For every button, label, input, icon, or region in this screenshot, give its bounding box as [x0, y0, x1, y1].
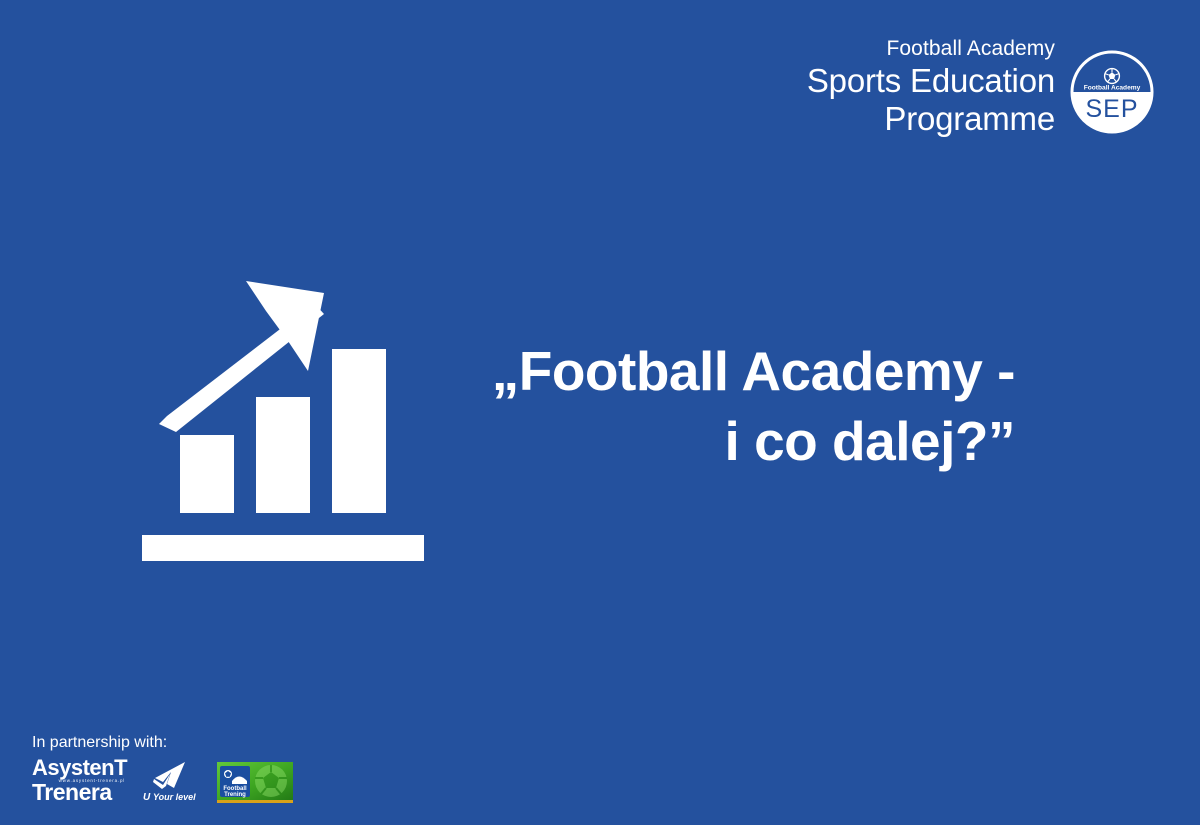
page-title-line1: „Football Academy - — [440, 336, 1015, 406]
up-your-level-label: Your level — [153, 792, 196, 802]
header-brand-block: Football Academy Sports Education Progra… — [807, 38, 1055, 135]
partner-logo-row: AsystenT www.asystent-trenera.pl Trenera… — [32, 758, 293, 803]
football-trening-logo: Football Trening — [217, 762, 293, 803]
sep-badge: Football Academy SEP — [1070, 46, 1154, 138]
chart-bar-3 — [332, 349, 386, 513]
asystent-trenera-logo: AsystenT www.asystent-trenera.pl Trenera — [32, 758, 127, 803]
chart-bar-1 — [180, 435, 234, 513]
slide-canvas: Football Academy Sports Education Progra… — [0, 0, 1200, 825]
trening-badge-line2: Trening — [224, 792, 246, 798]
growth-chart-icon — [138, 275, 430, 567]
page-title: „Football Academy - i co dalej?” — [440, 336, 1015, 477]
chart-bar-2 — [256, 397, 310, 513]
asystent-logo-url: www.asystent-trenera.pl — [32, 779, 125, 783]
page-title-line2: i co dalej?” — [440, 406, 1015, 476]
header-kicker: Football Academy — [807, 38, 1055, 59]
chart-baseline — [142, 535, 424, 561]
badge-top-text: Football Academy — [1084, 85, 1141, 92]
football-graphic — [255, 765, 287, 797]
partners-section: In partnership with: AsystenT www.asyste… — [32, 734, 293, 803]
asystent-logo-line1: AsystenT — [32, 758, 127, 778]
partners-label: In partnership with: — [32, 734, 293, 752]
asystent-logo-line2: Trenera — [32, 782, 127, 803]
up-your-level-logo: U Your level — [141, 760, 203, 803]
up-your-level-prefix: U — [143, 792, 151, 802]
header-title-line1: Sports Education — [807, 64, 1055, 97]
badge-acronym: SEP — [1085, 95, 1138, 123]
header-title-line2: Programme — [807, 102, 1055, 135]
checkmark-icon — [153, 762, 185, 789]
